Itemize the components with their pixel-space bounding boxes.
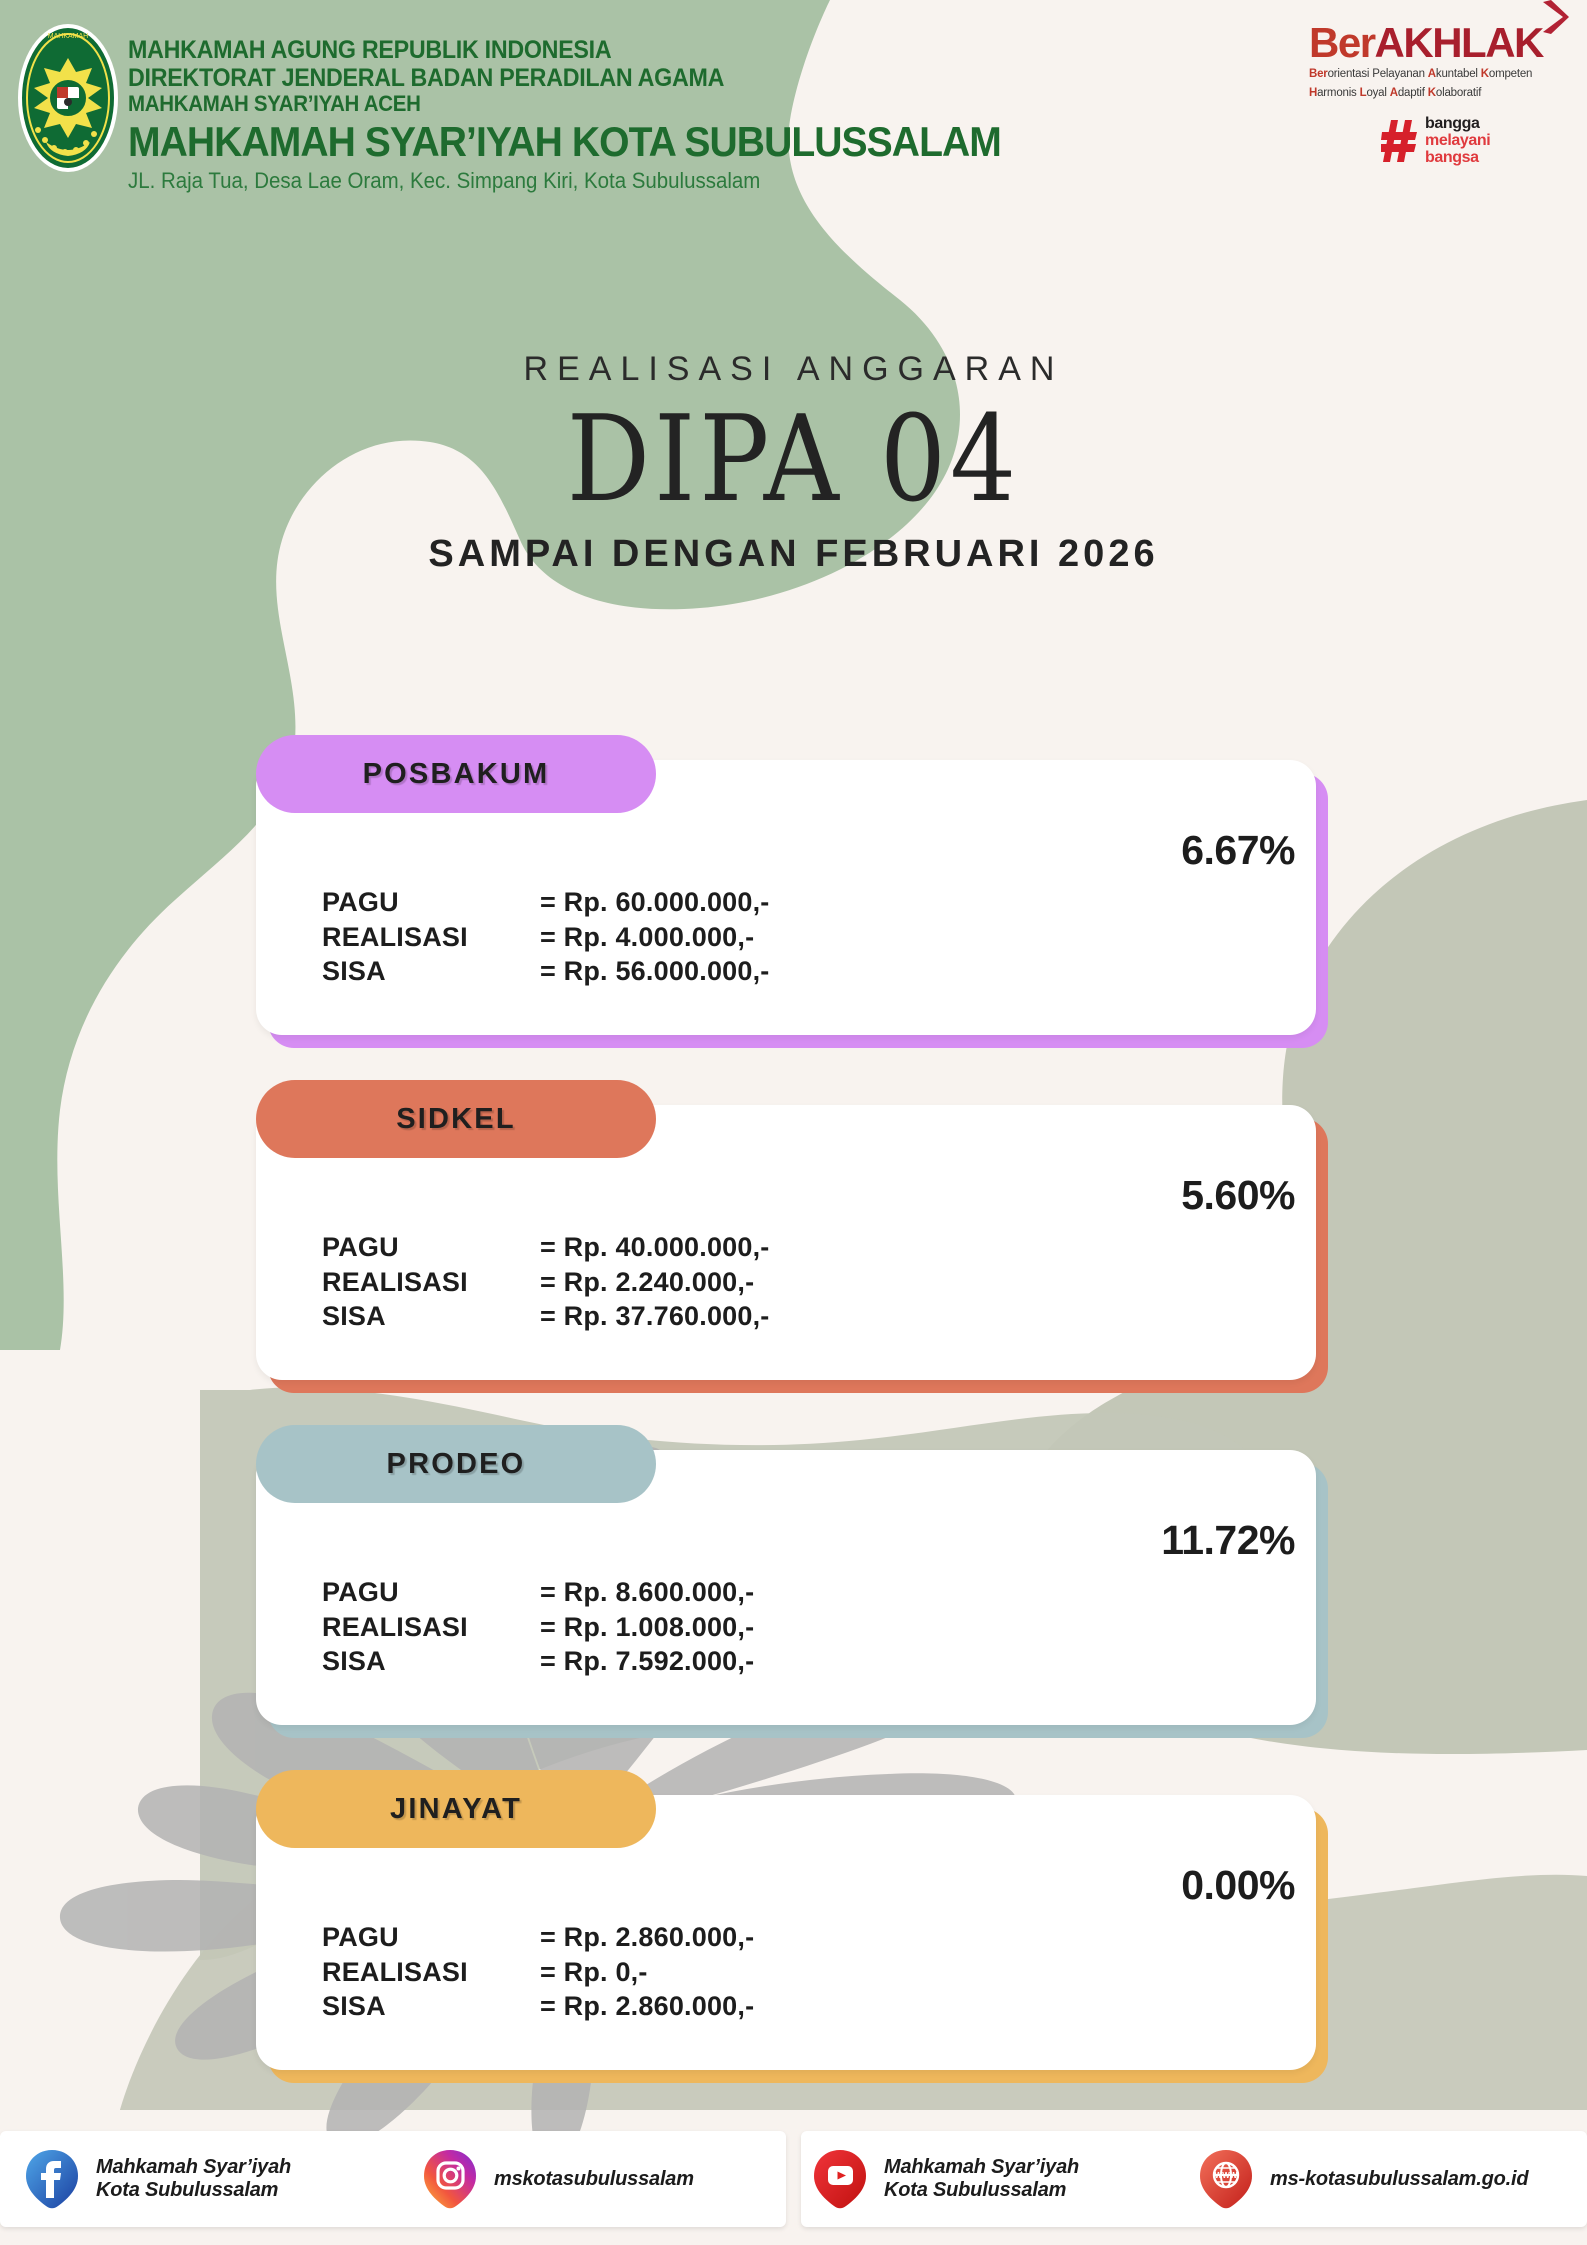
facebook-icon[interactable] xyxy=(22,2148,82,2210)
row-value-pagu: = Rp. 2.860.000,- xyxy=(540,1920,754,1955)
card-detail-rows: PAGU = Rp. 2.860.000,- REALISASI = Rp. 0… xyxy=(322,1920,754,2024)
social-footer: Mahkamah Syar’iyah Kota Subulussalam xyxy=(0,2113,1587,2245)
row-label-pagu: PAGU xyxy=(322,885,540,920)
title-block: REALISASI ANGGARAN DIPA 04 SAMPAI DENGAN… xyxy=(0,350,1587,576)
hashtag-icon xyxy=(1381,118,1419,164)
social-item-website[interactable]: WWW ms-kotasubulussalam.go.id xyxy=(1196,2131,1528,2227)
chevron-right-icon xyxy=(1539,0,1569,34)
social-label: Mahkamah Syar’iyah Kota Subulussalam xyxy=(884,2156,1079,2202)
row-value-sisa: = Rp. 37.760.000,- xyxy=(540,1299,770,1334)
row-label-sisa: SISA xyxy=(322,954,540,989)
row-label-pagu: PAGU xyxy=(322,1230,540,1265)
table-row: SISA = Rp. 37.760.000,- xyxy=(322,1299,770,1334)
header-line-2: DIREKTORAT JENDERAL BADAN PERADILAN AGAM… xyxy=(128,64,1132,92)
svg-text:MAHKAMAH: MAHKAMAH xyxy=(48,33,88,40)
header-line-3: MAHKAMAH SYAR’IYAH ACEH xyxy=(128,92,1132,117)
row-value-pagu: = Rp. 8.600.000,- xyxy=(540,1575,754,1610)
card-detail-rows: PAGU = Rp. 60.000.000,- REALISASI = Rp. … xyxy=(322,885,770,989)
row-label-pagu: PAGU xyxy=(322,1575,540,1610)
row-value-sisa: = Rp. 56.000.000,- xyxy=(540,954,770,989)
budget-card-posbakum[interactable]: POSBAKUM 6.67% PAGU = Rp. 60.000.000,- R… xyxy=(0,735,1587,1080)
title-subtitle: SAMPAI DENGAN FEBRUARI 2026 xyxy=(0,533,1587,576)
card-title: SIDKEL xyxy=(256,1103,656,1136)
bangga-text: bangga melayani bangsa xyxy=(1425,116,1490,167)
budget-card-jinayat[interactable]: JINAYAT 0.00% PAGU = Rp. 2.860.000,- REA… xyxy=(0,1770,1587,2115)
header-address: JL. Raja Tua, Desa Lae Oram, Kec. Simpan… xyxy=(128,169,1132,194)
row-value-realisasi: = Rp. 4.000.000,- xyxy=(540,920,754,955)
header-line-1: MAHKAMAH AGUNG REPUBLIK INDONESIA xyxy=(128,36,1132,64)
berakhlak-tagline-2: Harmonis Loyal Adaptif Kolaboratif xyxy=(1309,86,1559,102)
row-value-realisasi: = Rp. 0,- xyxy=(540,1955,648,1990)
budget-card-sidkel[interactable]: SIDKEL 5.60% PAGU = Rp. 40.000.000,- REA… xyxy=(0,1080,1587,1425)
berakhlak-logo: BerAKHLAK Berorientasi Pelayanan Akuntab… xyxy=(1309,22,1559,167)
social-label: Mahkamah Syar’iyah Kota Subulussalam xyxy=(96,2156,291,2202)
poster-header: MAHKAMAH MAHKAMAH AGUNG REPUBLIK INDONES… xyxy=(0,0,1587,230)
page-title: DIPA 04 xyxy=(0,395,1587,523)
row-value-sisa: = Rp. 7.592.000,- xyxy=(540,1644,754,1679)
berakhlak-tagline-1: Berorientasi Pelayanan Akuntabel Kompete… xyxy=(1309,67,1559,83)
table-row: SISA = Rp. 56.000.000,- xyxy=(322,954,770,989)
table-row: SISA = Rp. 2.860.000,- xyxy=(322,1989,754,2024)
row-value-sisa: = Rp. 2.860.000,- xyxy=(540,1989,754,2024)
youtube-icon[interactable] xyxy=(810,2148,870,2210)
bangga-melayani-bangsa-logo: bangga melayani bangsa xyxy=(1381,116,1559,167)
svg-text:WWW: WWW xyxy=(1215,2171,1238,2180)
title-kicker: REALISASI ANGGARAN xyxy=(0,350,1587,389)
table-row: PAGU = Rp. 8.600.000,- xyxy=(322,1575,754,1610)
table-row: PAGU = Rp. 60.000.000,- xyxy=(322,885,770,920)
table-row: PAGU = Rp. 40.000.000,- xyxy=(322,1230,770,1265)
social-label-line1: ms-kotasubulussalam.go.id xyxy=(1270,2168,1528,2191)
court-emblem-icon: MAHKAMAH xyxy=(16,22,120,174)
budget-card-prodeo[interactable]: PRODEO 11.72% PAGU = Rp. 8.600.000,- REA… xyxy=(0,1425,1587,1770)
card-percentage: 11.72% xyxy=(1161,1517,1295,1564)
card-title: POSBAKUM xyxy=(256,758,656,791)
instagram-icon[interactable] xyxy=(420,2148,480,2210)
card-tag-prodeo: PRODEO xyxy=(256,1425,656,1503)
card-percentage: 6.67% xyxy=(1181,827,1295,874)
table-row: PAGU = Rp. 2.860.000,- xyxy=(322,1920,754,1955)
table-row: REALISASI = Rp. 0,- xyxy=(322,1955,754,1990)
header-line-4: MAHKAMAH SYAR’IYAH KOTA SUBULUSSALAM xyxy=(128,118,1132,165)
card-tag-jinayat: JINAYAT xyxy=(256,1770,656,1848)
berakhlak-prefix: Ber xyxy=(1309,19,1375,66)
social-label-line2: Kota Subulussalam xyxy=(884,2179,1079,2202)
card-percentage: 0.00% xyxy=(1181,1862,1295,1909)
social-item-youtube[interactable]: Mahkamah Syar’iyah Kota Subulussalam xyxy=(810,2131,1079,2227)
row-label-sisa: SISA xyxy=(322,1644,540,1679)
card-detail-rows: PAGU = Rp. 8.600.000,- REALISASI = Rp. 1… xyxy=(322,1575,754,1679)
row-label-sisa: SISA xyxy=(322,1989,540,2024)
bangga-line-2: melayani xyxy=(1425,133,1490,150)
social-item-facebook[interactable]: Mahkamah Syar’iyah Kota Subulussalam xyxy=(22,2131,291,2227)
header-text-block: MAHKAMAH AGUNG REPUBLIK INDONESIA DIREKT… xyxy=(128,36,1208,193)
row-label-sisa: SISA xyxy=(322,1299,540,1334)
row-label-realisasi: REALISASI xyxy=(322,1610,540,1645)
card-tag-posbakum: POSBAKUM xyxy=(256,735,656,813)
poster-root: MAHKAMAH MAHKAMAH AGUNG REPUBLIK INDONES… xyxy=(0,0,1587,2245)
social-label-line1: mskotasubulussalam xyxy=(494,2168,694,2191)
card-title: JINAYAT xyxy=(256,1793,656,1826)
row-label-realisasi: REALISASI xyxy=(322,920,540,955)
table-row: REALISASI = Rp. 4.000.000,- xyxy=(322,920,770,955)
card-tag-sidkel: SIDKEL xyxy=(256,1080,656,1158)
card-detail-rows: PAGU = Rp. 40.000.000,- REALISASI = Rp. … xyxy=(322,1230,770,1334)
bangga-line-1: bangga xyxy=(1425,116,1490,133)
social-label-line1: Mahkamah Syar’iyah xyxy=(884,2156,1079,2179)
table-row: REALISASI = Rp. 2.240.000,- xyxy=(322,1265,770,1300)
row-value-pagu: = Rp. 60.000.000,- xyxy=(540,885,770,920)
berakhlak-wordmark: BerAKHLAK xyxy=(1309,22,1543,64)
table-row: SISA = Rp. 7.592.000,- xyxy=(322,1644,754,1679)
card-title: PRODEO xyxy=(256,1448,656,1481)
social-label: ms-kotasubulussalam.go.id xyxy=(1270,2168,1528,2191)
row-value-realisasi: = Rp. 2.240.000,- xyxy=(540,1265,754,1300)
website-icon[interactable]: WWW xyxy=(1196,2148,1256,2210)
social-label-line2: Kota Subulussalam xyxy=(96,2179,291,2202)
row-label-realisasi: REALISASI xyxy=(322,1265,540,1300)
social-label: mskotasubulussalam xyxy=(494,2168,694,2191)
budget-card-list: POSBAKUM 6.67% PAGU = Rp. 60.000.000,- R… xyxy=(0,735,1587,2115)
berakhlak-suffix: AKHLAK xyxy=(1375,19,1543,66)
row-label-pagu: PAGU xyxy=(322,1920,540,1955)
row-value-realisasi: = Rp. 1.008.000,- xyxy=(540,1610,754,1645)
card-percentage: 5.60% xyxy=(1181,1172,1295,1219)
bangga-line-3: bangsa xyxy=(1425,150,1490,167)
table-row: REALISASI = Rp. 1.008.000,- xyxy=(322,1610,754,1645)
row-label-realisasi: REALISASI xyxy=(322,1955,540,1990)
social-label-line1: Mahkamah Syar’iyah xyxy=(96,2156,291,2179)
row-value-pagu: = Rp. 40.000.000,- xyxy=(540,1230,770,1265)
social-item-instagram[interactable]: mskotasubulussalam xyxy=(420,2131,694,2227)
